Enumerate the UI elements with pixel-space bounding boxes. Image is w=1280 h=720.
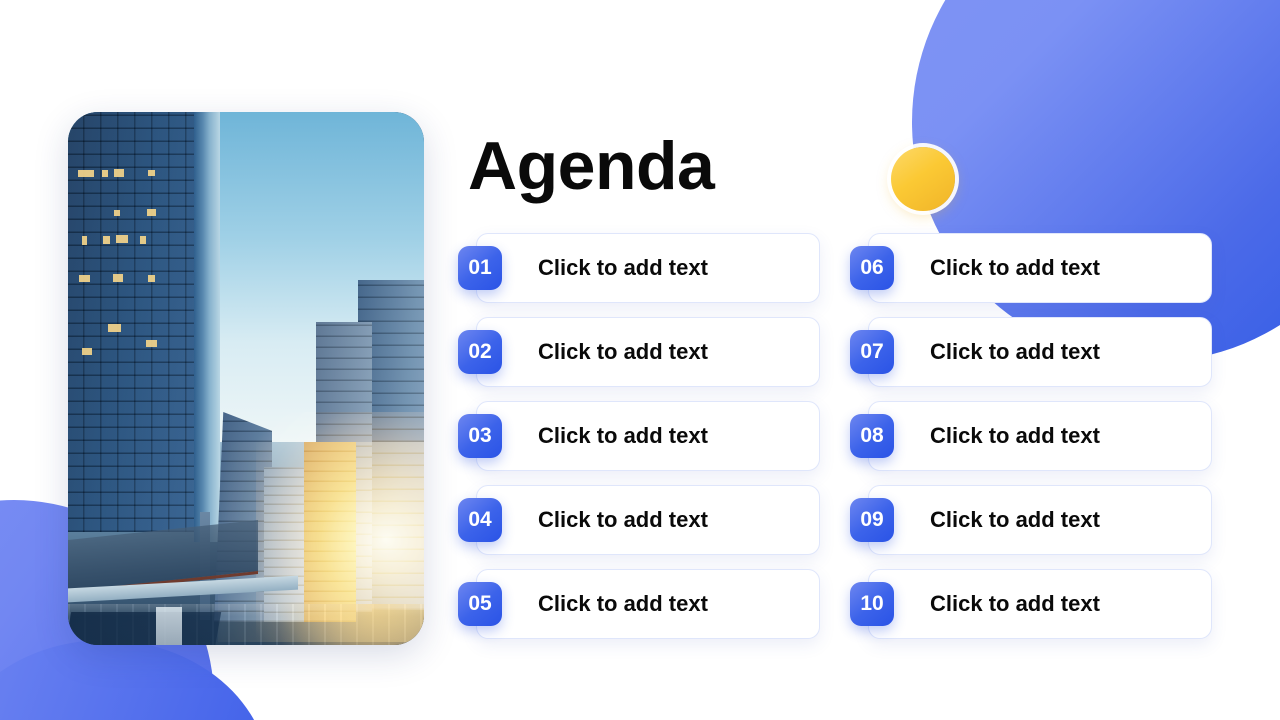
- agenda-item-number-badge: 01: [458, 246, 502, 290]
- agenda-item-text[interactable]: Click to add text: [538, 255, 708, 281]
- lit-window: [79, 275, 90, 282]
- agenda-item-number-badge: 03: [458, 414, 502, 458]
- agenda-item-number-badge: 05: [458, 582, 502, 626]
- agenda-item-06[interactable]: 06 Click to add text: [850, 233, 1212, 303]
- agenda-item-number-badge: 07: [850, 330, 894, 374]
- agenda-left-column: 01 Click to add text 02 Click to add tex…: [458, 233, 820, 639]
- agenda-item-text[interactable]: Click to add text: [930, 423, 1100, 449]
- agenda-item-number-badge: 02: [458, 330, 502, 374]
- agenda-right-column: 06 Click to add text 07 Click to add tex…: [850, 233, 1212, 639]
- lit-window: [148, 170, 155, 176]
- lit-window: [113, 274, 123, 282]
- agenda-item-text[interactable]: Click to add text: [930, 591, 1100, 617]
- lit-window: [78, 170, 94, 177]
- water-reflection-glow: [278, 604, 424, 645]
- blob-bottom-left-secondary-shape: [0, 640, 270, 720]
- agenda-item-number-badge: 06: [850, 246, 894, 290]
- agenda-item-text[interactable]: Click to add text: [538, 339, 708, 365]
- lit-window: [147, 209, 156, 216]
- agenda-item-number-badge: 08: [850, 414, 894, 458]
- agenda-item-number-badge: 04: [458, 498, 502, 542]
- agenda-item-02[interactable]: 02 Click to add text: [458, 317, 820, 387]
- agenda-item-01[interactable]: 01 Click to add text: [458, 233, 820, 303]
- agenda-item-text[interactable]: Click to add text: [930, 507, 1100, 533]
- lit-window: [82, 348, 92, 355]
- agenda-item-text[interactable]: Click to add text: [930, 339, 1100, 365]
- agenda-slide: Agenda 01 Click to add text 02 Click to …: [0, 0, 1280, 720]
- lit-window: [114, 169, 124, 177]
- agenda-item-number-badge: 09: [850, 498, 894, 542]
- page-title: Agenda: [468, 132, 714, 200]
- lit-window: [108, 324, 121, 332]
- building-left-tower-edge: [194, 112, 220, 542]
- lit-window: [140, 236, 146, 244]
- agenda-item-03[interactable]: 03 Click to add text: [458, 401, 820, 471]
- hero-image[interactable]: [68, 112, 424, 645]
- lit-window: [103, 236, 110, 244]
- agenda-item-05[interactable]: 05 Click to add text: [458, 569, 820, 639]
- agenda-item-text[interactable]: Click to add text: [538, 507, 708, 533]
- cityscape-photo: [68, 112, 424, 645]
- agenda-item-04[interactable]: 04 Click to add text: [458, 485, 820, 555]
- agenda-item-08[interactable]: 08 Click to add text: [850, 401, 1212, 471]
- agenda-columns: 01 Click to add text 02 Click to add tex…: [458, 233, 1248, 639]
- agenda-item-07[interactable]: 07 Click to add text: [850, 317, 1212, 387]
- lit-window: [114, 210, 120, 216]
- yellow-circle-accent: [891, 147, 955, 211]
- lit-window: [148, 275, 155, 282]
- lit-window: [102, 170, 108, 177]
- agenda-item-number-badge: 10: [850, 582, 894, 626]
- lit-window: [116, 235, 128, 243]
- agenda-item-10[interactable]: 10 Click to add text: [850, 569, 1212, 639]
- agenda-item-text[interactable]: Click to add text: [930, 255, 1100, 281]
- water-reflection-streak: [156, 607, 182, 645]
- water-reflection-dark: [68, 612, 221, 645]
- agenda-item-text[interactable]: Click to add text: [538, 423, 708, 449]
- lit-window: [146, 340, 157, 347]
- lit-window: [82, 236, 87, 245]
- agenda-item-09[interactable]: 09 Click to add text: [850, 485, 1212, 555]
- agenda-item-text[interactable]: Click to add text: [538, 591, 708, 617]
